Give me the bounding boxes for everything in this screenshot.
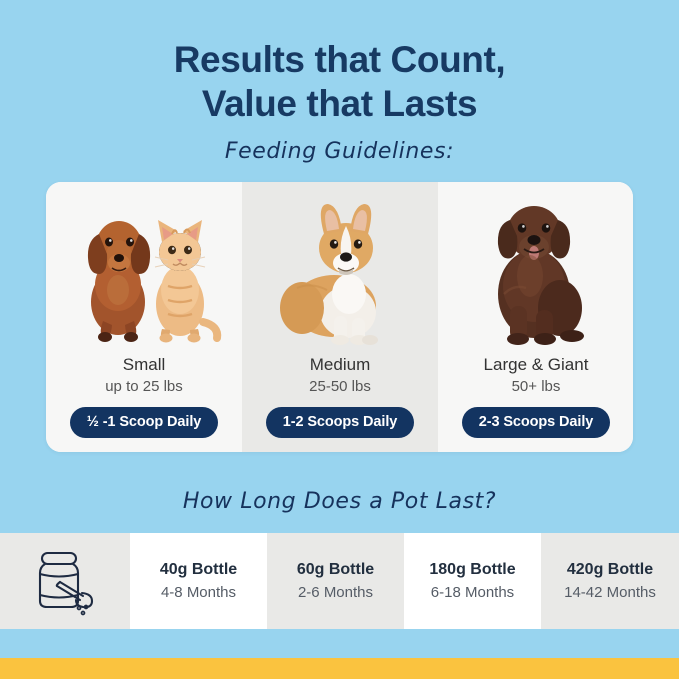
pot-duration-value: 6-18 Months [431, 583, 514, 603]
page-title-line-2: Value that Lasts [0, 82, 679, 126]
scoop-dose-badge: ½ -1 Scoop Daily [70, 407, 218, 438]
feeding-size-label: Medium [310, 354, 370, 375]
corgi-photo [242, 190, 438, 350]
pot-size-label: 420g Bottle [567, 560, 653, 580]
feeding-column-small: Small up to 25 lbs ½ -1 Scoop Daily [46, 182, 242, 452]
pot-duration-table: 40g Bottle 4-8 Months 60g Bottle 2-6 Mon… [0, 533, 679, 629]
pot-duration-value: 4-8 Months [161, 583, 236, 603]
feeding-size-label: Large & Giant [484, 354, 589, 375]
feeding-column-medium: Medium 25-50 lbs 1-2 Scoops Daily [242, 182, 438, 452]
pot-duration-value: 14-42 Months [564, 583, 656, 603]
feeding-weight-range: 50+ lbs [512, 377, 561, 396]
scoop-dose-badge: 2-3 Scoops Daily [462, 407, 610, 438]
pot-duration-value: 2-6 Months [298, 583, 373, 603]
infographic-page: Results that Count, Value that Lasts Fee… [0, 0, 679, 679]
feeding-guidelines-card: Small up to 25 lbs ½ -1 Scoop Daily [46, 182, 633, 452]
pot-size-label: 180g Bottle [429, 560, 515, 580]
feeding-weight-range: up to 25 lbs [105, 377, 183, 396]
feeding-guidelines-heading: Feeding Guidelines: [0, 139, 679, 164]
scoop-dose-badge: 1-2 Scoops Daily [266, 407, 414, 438]
supplement-jar-with-scoop-icon [26, 545, 104, 617]
pot-duration-cell-420g: 420g Bottle 14-42 Months [541, 533, 679, 629]
dachshund-and-cat-photo [46, 190, 242, 350]
pot-duration-cell-60g: 60g Bottle 2-6 Months [267, 533, 404, 629]
page-title-line-1: Results that Count, [0, 38, 679, 82]
bottom-yellow-stripe [0, 658, 679, 679]
pot-size-label: 60g Bottle [297, 560, 374, 580]
feeding-weight-range: 25-50 lbs [309, 377, 371, 396]
pot-duration-heading: How Long Does a Pot Last? [0, 489, 679, 514]
page-title: Results that Count, Value that Lasts [0, 38, 679, 126]
bottom-blue-stripe [0, 629, 679, 658]
pot-duration-icon-cell [0, 533, 130, 629]
pot-duration-cell-40g: 40g Bottle 4-8 Months [130, 533, 267, 629]
pot-size-label: 40g Bottle [160, 560, 237, 580]
feeding-size-label: Small [123, 354, 166, 375]
pot-duration-cell-180g: 180g Bottle 6-18 Months [404, 533, 541, 629]
chocolate-labrador-photo [438, 190, 633, 350]
feeding-column-large: Large & Giant 50+ lbs 2-3 Scoops Daily [438, 182, 633, 452]
